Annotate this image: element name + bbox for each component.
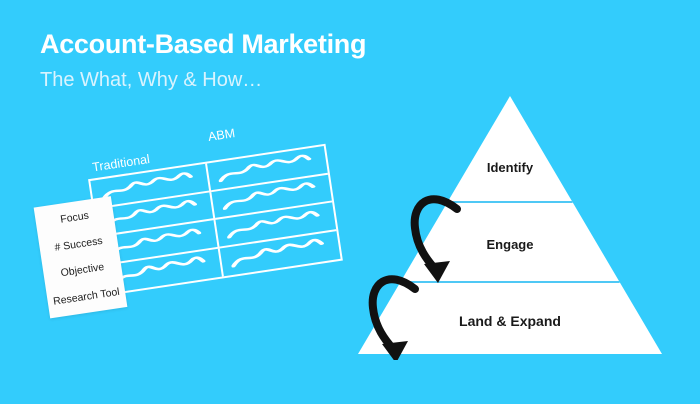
page-subtitle: The What, Why & How… — [40, 68, 460, 92]
pyramid-tier-label-land-expand: Land & Expand — [352, 313, 668, 329]
pyramid-figure: Identify Engage Land & Expand — [352, 92, 668, 360]
column-header-abm: ABM — [207, 126, 236, 144]
comparison-table-figure: Traditional ABM — [27, 122, 348, 330]
row-label-research-tool: Research Tool — [53, 286, 121, 306]
pyramid-tier-label-engage: Engage — [352, 237, 668, 252]
title-block: Account-Based Marketing The What, Why & … — [40, 30, 460, 92]
row-label-focus: Focus — [60, 211, 90, 226]
page-title: Account-Based Marketing — [40, 30, 460, 60]
row-label-objective: Objective — [60, 262, 105, 279]
row-label-success: # Success — [54, 235, 103, 253]
slide-canvas: Account-Based Marketing The What, Why & … — [0, 0, 700, 404]
row-label-column: Focus # Success Objective Research Tool — [34, 196, 128, 318]
pyramid-tier-label-identify: Identify — [352, 160, 668, 175]
